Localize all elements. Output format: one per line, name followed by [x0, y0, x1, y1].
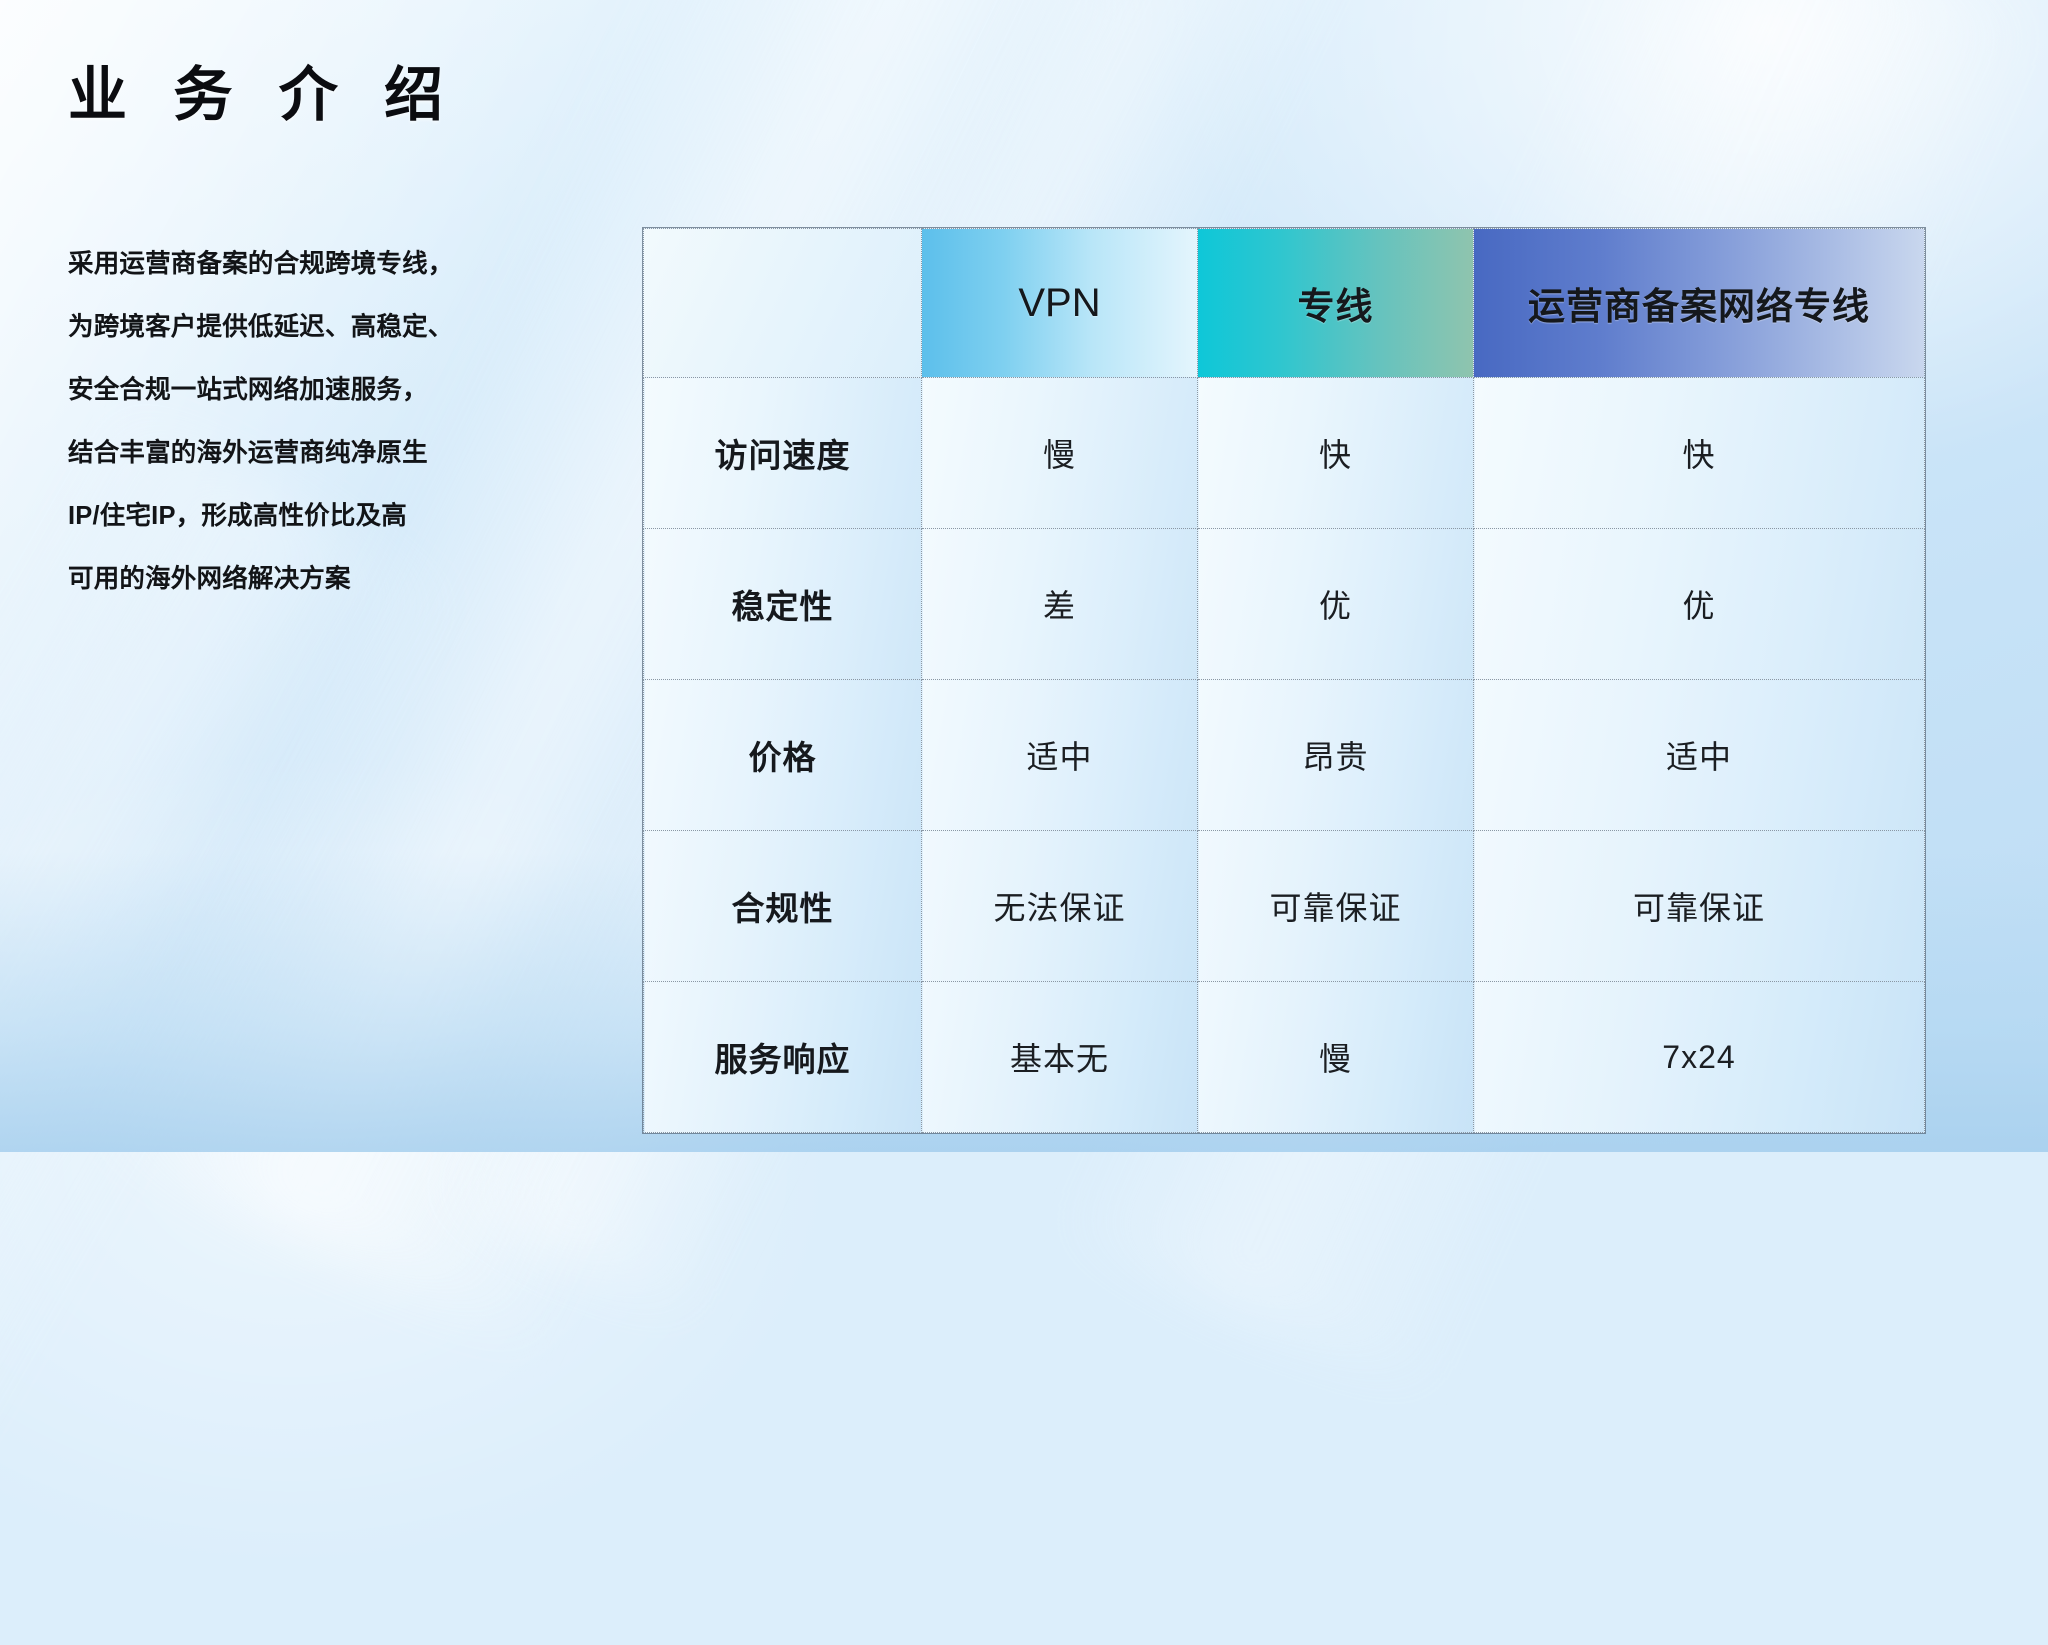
table-header-isp-registered-line-label: 运营商备案网络专线 [1528, 286, 1870, 327]
intro-line: 可用的海外网络解决方案 [68, 548, 628, 611]
row-value: 适中 [1666, 739, 1732, 775]
table-header-blank [644, 229, 922, 378]
row-value-cell-dedicated-line: 快 [1198, 378, 1474, 529]
row-value-cell-isp-registered-line: 适中 [1474, 680, 1925, 831]
row-value: 可靠保证 [1269, 890, 1401, 926]
row-value-cell-dedicated-line: 优 [1198, 529, 1474, 680]
row-label: 服务响应 [715, 1041, 851, 1078]
row-value: 7x24 [1662, 1039, 1735, 1075]
table-header-row: VPN 专线 运营商备案网络专线 [644, 229, 1925, 378]
row-value-cell-vpn: 无法保证 [922, 831, 1198, 982]
table-header-isp-registered-line: 运营商备案网络专线 [1474, 229, 1925, 378]
row-value: 基本无 [1010, 1041, 1109, 1077]
row-value-cell-dedicated-line: 可靠保证 [1198, 831, 1474, 982]
table-row: 价格 适中 昂贵 适中 [644, 680, 1925, 831]
row-value-cell-vpn: 差 [922, 529, 1198, 680]
table-header-vpn: VPN [922, 229, 1198, 378]
row-value: 可靠保证 [1633, 890, 1765, 926]
row-value-cell-dedicated-line: 慢 [1198, 982, 1474, 1133]
row-value-cell-vpn: 慢 [922, 378, 1198, 529]
row-value: 无法保证 [993, 890, 1125, 926]
intro-line: 安全合规一站式网络加速服务， [68, 359, 628, 422]
table-row: 访问速度 慢 快 快 [644, 378, 1925, 529]
row-value-cell-isp-registered-line: 7x24 [1474, 982, 1925, 1133]
row-value: 差 [1043, 588, 1076, 624]
row-value: 昂贵 [1302, 739, 1368, 775]
row-value: 快 [1319, 437, 1352, 473]
row-label-cell: 价格 [644, 680, 922, 831]
row-value: 慢 [1319, 1041, 1352, 1077]
row-value-cell-isp-registered-line: 可靠保证 [1474, 831, 1925, 982]
table-header-vpn-label: VPN [1018, 281, 1100, 325]
comparison-table: VPN 专线 运营商备案网络专线 访问速度 慢 快 快 [643, 228, 1925, 1133]
table-row: 服务响应 基本无 慢 7x24 [644, 982, 1925, 1133]
row-label: 合规性 [732, 890, 834, 927]
row-value-cell-vpn: 基本无 [922, 982, 1198, 1133]
row-label-cell: 服务响应 [644, 982, 922, 1133]
row-value: 适中 [1026, 739, 1092, 775]
row-value-cell-vpn: 适中 [922, 680, 1198, 831]
row-value-cell-dedicated-line: 昂贵 [1198, 680, 1474, 831]
row-label-cell: 合规性 [644, 831, 922, 982]
intro-line: 结合丰富的海外运营商纯净原生 [68, 422, 628, 485]
table-header-dedicated-line: 专线 [1198, 229, 1474, 378]
row-label: 价格 [749, 739, 817, 776]
row-value-cell-isp-registered-line: 优 [1474, 529, 1925, 680]
row-value: 快 [1682, 437, 1715, 473]
row-label-cell: 稳定性 [644, 529, 922, 680]
row-label: 稳定性 [732, 588, 834, 625]
row-value-cell-isp-registered-line: 快 [1474, 378, 1925, 529]
table-header-dedicated-line-label: 专线 [1298, 286, 1374, 327]
intro-line: 采用运营商备案的合规跨境专线， [68, 233, 628, 296]
table-row: 稳定性 差 优 优 [644, 529, 1925, 680]
row-value: 优 [1319, 588, 1352, 624]
intro-line: IP/住宅IP，形成高性价比及高 [68, 485, 628, 548]
intro-paragraph: 采用运营商备案的合规跨境专线， 为跨境客户提供低延迟、高稳定、 安全合规一站式网… [68, 233, 628, 611]
row-label-cell: 访问速度 [644, 378, 922, 529]
row-value: 优 [1682, 588, 1715, 624]
page-title: 业 务 介 绍 [68, 62, 458, 130]
row-value: 慢 [1043, 437, 1076, 473]
table-row: 合规性 无法保证 可靠保证 可靠保证 [644, 831, 1925, 982]
intro-line: 为跨境客户提供低延迟、高稳定、 [68, 296, 628, 359]
row-label: 访问速度 [715, 437, 851, 474]
